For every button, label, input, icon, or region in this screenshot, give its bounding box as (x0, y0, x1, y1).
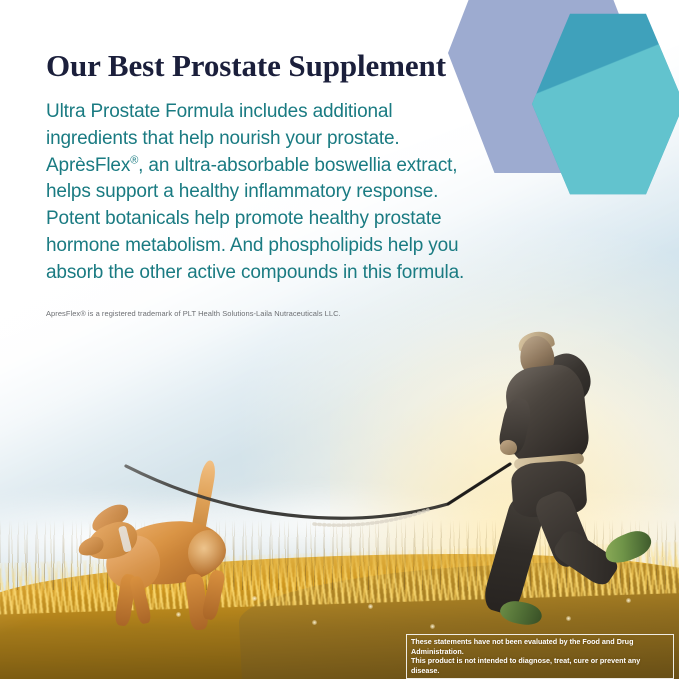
page-title: Our Best Prostate Supplement (46, 48, 506, 85)
dog-hind-leg-right (201, 569, 226, 621)
product-info-panel: Our Best Prostate Supplement Ultra Prost… (0, 0, 679, 679)
trademark-note: ApresFlex® is a registered trademark of … (46, 309, 506, 319)
text-content-block: Our Best Prostate Supplement Ultra Prost… (46, 48, 506, 319)
fda-disclaimer-line-1: These statements have not been evaluated… (411, 637, 669, 656)
seed-head (430, 624, 435, 629)
registered-trademark-symbol: ® (130, 154, 138, 166)
runner (478, 330, 678, 630)
runner-hand (500, 440, 517, 455)
seed-head (312, 620, 317, 625)
fda-disclaimer-line-2: This product is not intended to diagnose… (411, 656, 669, 675)
dog (84, 478, 274, 638)
fda-disclaimer: These statements have not been evaluated… (406, 634, 674, 679)
runner-back-shoe (498, 599, 543, 628)
body-paragraph: Ultra Prostate Formula includes addition… (46, 99, 488, 288)
seed-head (368, 604, 373, 609)
dog-rump-highlight (188, 530, 230, 576)
